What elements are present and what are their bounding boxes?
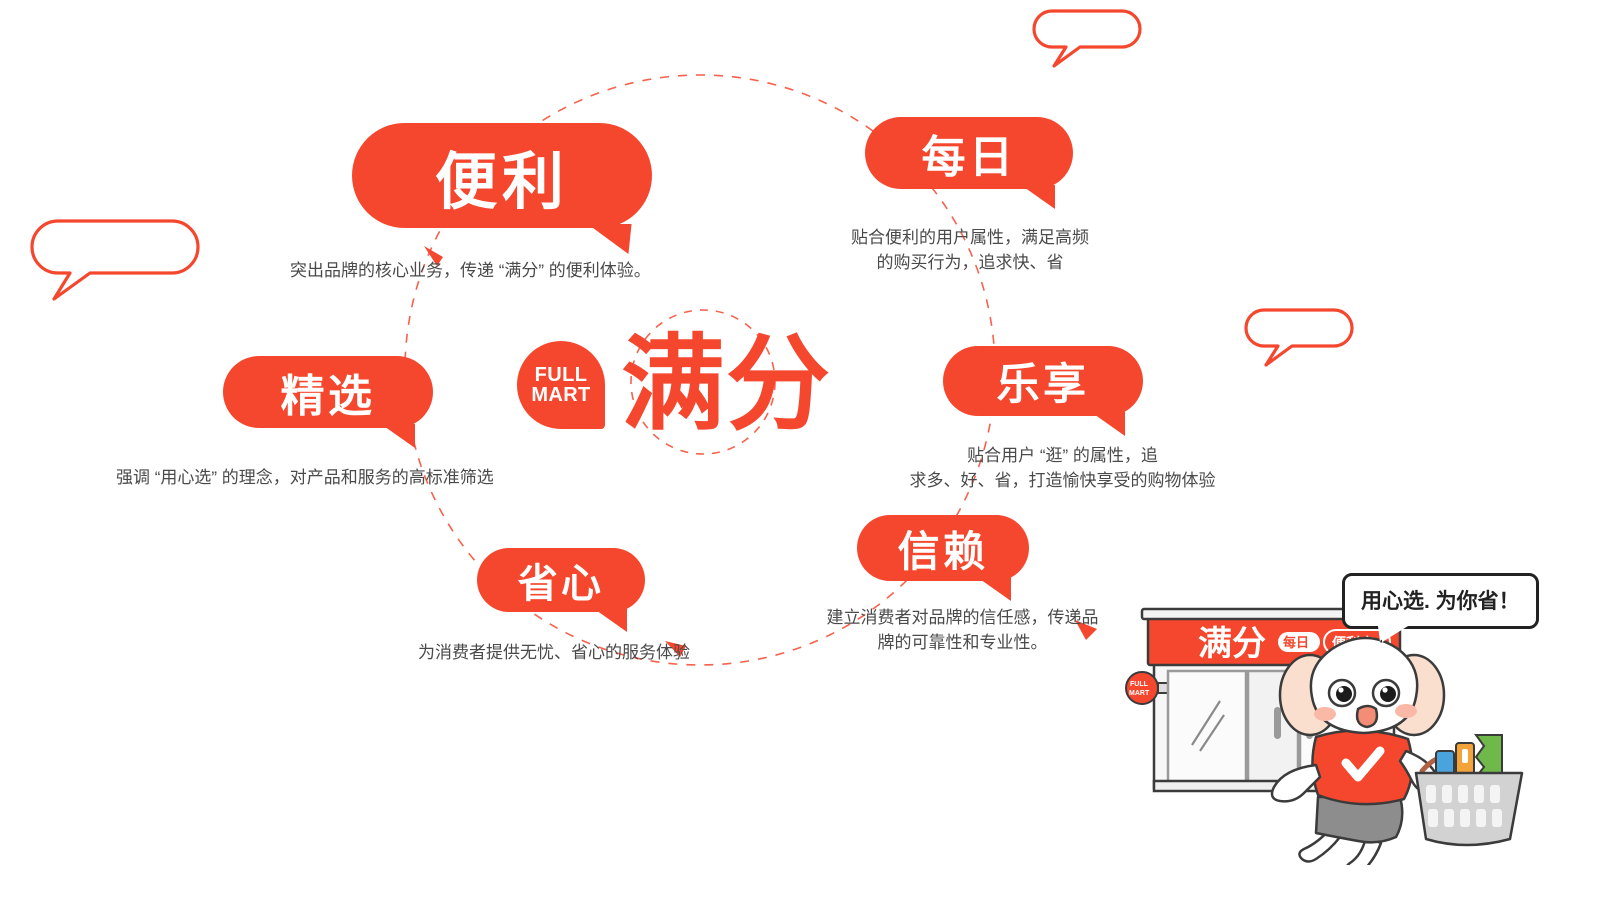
keyword-pill-meiri[interactable]: 每日 — [865, 117, 1073, 189]
svg-text:MART: MART — [1129, 690, 1150, 697]
keyword-pill-lexiang[interactable]: 乐享 — [943, 346, 1143, 416]
keyword-pill-label: 乐享 — [997, 350, 1090, 412]
shopping-basket — [1416, 735, 1522, 845]
keyword-description-xinlai: 建立消费者对品牌的信任感，传递品 牌的可靠性和专业性。 — [805, 605, 1120, 655]
brand-logo: FULL MART 满分 — [517, 333, 831, 437]
keyword-description-jingxuan: 强调 “用心选” 的理念，对产品和服务的高标准筛选 — [116, 465, 494, 490]
keyword-pill-xinlai[interactable]: 信赖 — [857, 515, 1029, 581]
bubble-tail — [584, 224, 631, 254]
bubble-tail — [977, 577, 1011, 601]
keyword-pill-shengxin[interactable]: 省心 — [477, 548, 645, 612]
diagram-canvas: 便利 每日 精选 乐享 省心 信赖 突出品牌的核心业务，传递 “满分” 的便利体… — [0, 0, 1620, 920]
bubble-tail — [381, 424, 415, 448]
bubble-tail — [1091, 412, 1125, 436]
svg-text:每日: 每日 — [1283, 635, 1309, 650]
keyword-pill-label: 每日 — [921, 121, 1016, 185]
decorative-bubble-top-right — [1032, 6, 1142, 70]
keyword-description-lexiang: 贴合用户 “逛” 的属性，追 求多、好、省，打造愉快享受的购物体验 — [890, 443, 1235, 493]
svg-text:FULL: FULL — [1130, 681, 1149, 688]
decorative-bubble-right — [1244, 305, 1354, 369]
logo-line-mart: MART — [531, 385, 590, 405]
keyword-pill-jingxuan[interactable]: 精选 — [223, 356, 433, 428]
bubble-tail — [593, 608, 627, 632]
mascot-speech-text: 用心选. 为你省！ — [1361, 590, 1520, 613]
keyword-pill-label: 精选 — [280, 360, 375, 424]
brand-wordmark: 满分 — [621, 333, 831, 437]
decorative-bubble-left — [30, 215, 200, 305]
full-mart-logo-mark: FULL MART — [517, 341, 605, 429]
mascot-speech-bubble: 用心选. 为你省！ — [1342, 573, 1539, 629]
keyword-description-bianli: 突出品牌的核心业务，传递 “满分” 的便利体验。 — [290, 258, 651, 283]
logo-line-full: FULL — [535, 365, 588, 385]
storefront-sign-text: 满分 — [1198, 625, 1266, 663]
keyword-pill-label: 信赖 — [898, 518, 989, 579]
keyword-pill-label: 便利 — [435, 131, 569, 221]
keyword-description-meiri: 贴合便利的用户属性，满足高频 的购买行为，追求快、省 — [830, 225, 1110, 275]
bubble-tail — [1021, 185, 1055, 209]
keyword-pill-bianli[interactable]: 便利 — [352, 123, 652, 228]
keyword-pill-label: 省心 — [518, 551, 604, 609]
keyword-description-shengxin: 为消费者提供无忧、省心的服务体验 — [418, 640, 690, 665]
